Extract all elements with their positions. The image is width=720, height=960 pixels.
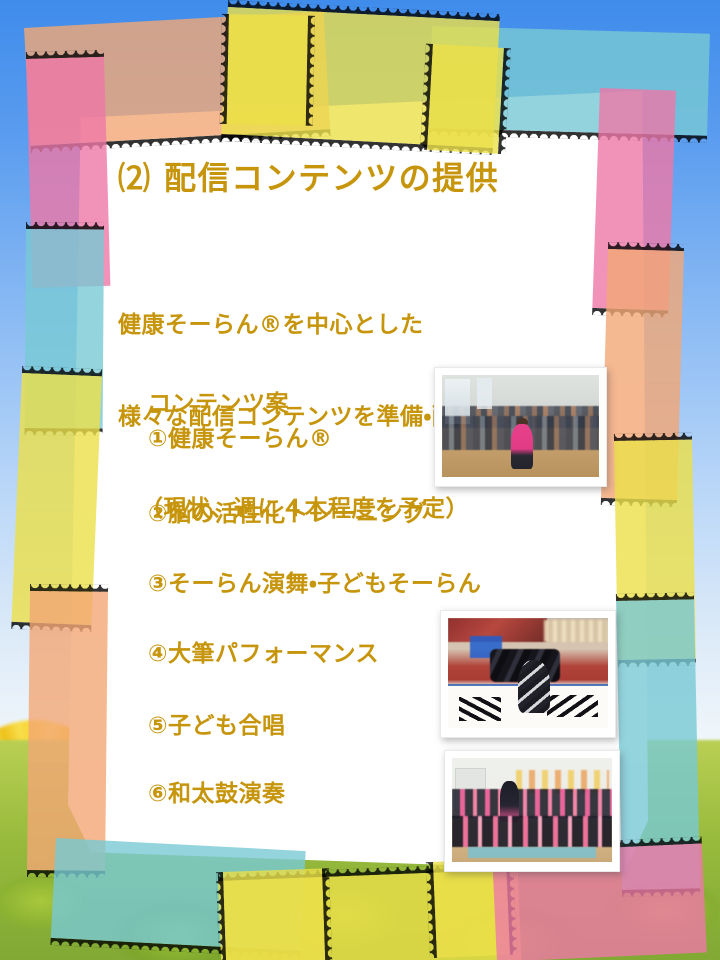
calligraphy-performance-photo[interactable] (440, 610, 616, 738)
children-soran-photo-image (452, 758, 612, 862)
list-item-3: ③そーらん演舞・子どもそーらん (148, 570, 481, 599)
lead-line-1: 健康そーらん®を中心とした (118, 309, 479, 342)
tape-bottom-yellow-tab (222, 869, 325, 960)
list-item-4: ④大筆パフォーマンス (148, 640, 379, 669)
list-item-2: ②脳の活性化トレーニング (148, 500, 426, 529)
list-heading: コンテンツ案 (148, 390, 289, 419)
list-item-6: ⑥和太鼓演奏 (148, 780, 285, 809)
group-exercise-photo[interactable] (434, 367, 607, 487)
group-exercise-photo-image (442, 375, 599, 477)
children-soran-photo[interactable] (444, 750, 620, 872)
page-title: ⑵ 配信コンテンツの提供 (118, 158, 499, 199)
tape-left-orange (27, 590, 108, 871)
list-item-5: ⑤子ども合唱 (148, 712, 285, 741)
tape-top-yellow-tab-2 (426, 44, 504, 154)
calligraphy-performance-photo-image (448, 618, 608, 728)
list-item-1: ①健康そーらん® (148, 425, 332, 454)
tape-top-yellow-tab (226, 14, 308, 126)
slide-canvas: ⑵ 配信コンテンツの提供 健康そーらん®を中心とした 様々な配信コンテンツを準備… (0, 0, 720, 960)
